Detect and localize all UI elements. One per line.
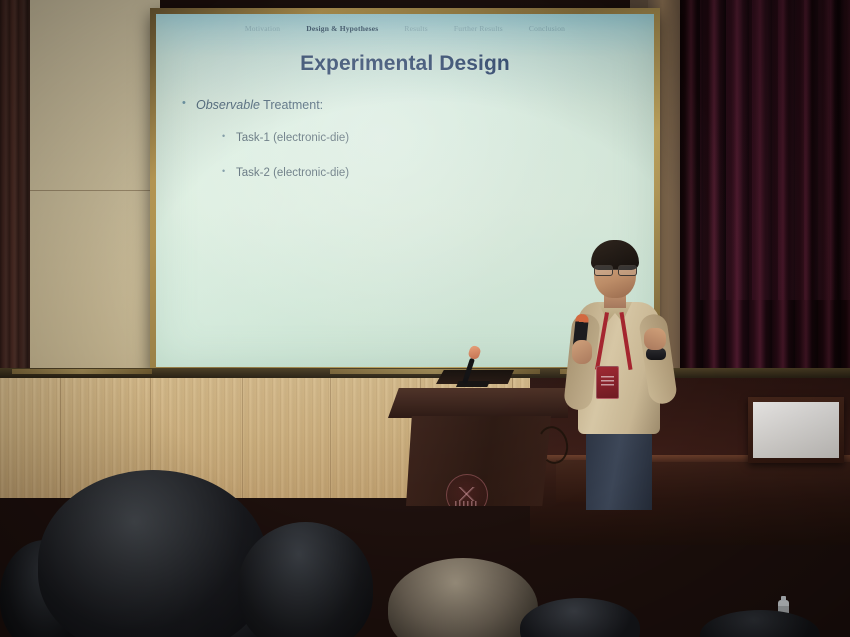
- slide-bullet-task-2: Task-2 (electronic-die): [182, 167, 634, 179]
- slide-bullet-text: Treatment:: [260, 98, 323, 112]
- slide-nav-item-motivation: Motivation: [245, 24, 280, 33]
- slide-nav-item-results: Results: [404, 24, 428, 33]
- audience-head: [388, 558, 538, 637]
- presenter-hand-left: [572, 340, 592, 364]
- podium-microphone-icon: [458, 348, 488, 384]
- presenter-hand-right: [644, 328, 666, 350]
- eyeglasses-icon: [593, 265, 637, 274]
- slide-nav-item-conclusion: Conclusion: [529, 24, 565, 33]
- lecture-hall-room: Motivation Design & Hypotheses Results F…: [0, 0, 850, 637]
- presenter-name-badge: [596, 366, 619, 399]
- podium-top-surface: [388, 388, 568, 418]
- presentation-photo-scene: Motivation Design & Hypotheses Results F…: [0, 0, 850, 637]
- table-placard: [748, 397, 844, 463]
- audience-head: [238, 522, 373, 637]
- presenter-lanyard: [598, 312, 632, 372]
- presenter-person: [560, 236, 700, 506]
- audience-head: [520, 598, 640, 637]
- slide-body: Observable Treatment: Task-1 (electronic…: [182, 98, 634, 202]
- slide-nav-item-further-results: Further Results: [454, 24, 503, 33]
- slide-bullet-task-1: Task-1 (electronic-die): [182, 132, 634, 144]
- lectern-podium: [388, 378, 568, 498]
- placard-face: [753, 402, 839, 458]
- slide-section-nav: Motivation Design & Hypotheses Results F…: [156, 24, 654, 33]
- university-crest-icon: [446, 474, 488, 516]
- audience-head: [700, 610, 820, 637]
- slide-bullet-emphasis: Observable: [196, 98, 260, 112]
- slide-nav-item-design-hypotheses: Design & Hypotheses: [306, 24, 378, 33]
- slide-bullet-observable-treatment: Observable Treatment:: [182, 98, 634, 112]
- stage-curtain-right-folds: [700, 0, 850, 300]
- podium-front-panel: [406, 416, 551, 506]
- slide-title: Experimental Design: [156, 52, 654, 76]
- presenter-trousers: [586, 430, 652, 510]
